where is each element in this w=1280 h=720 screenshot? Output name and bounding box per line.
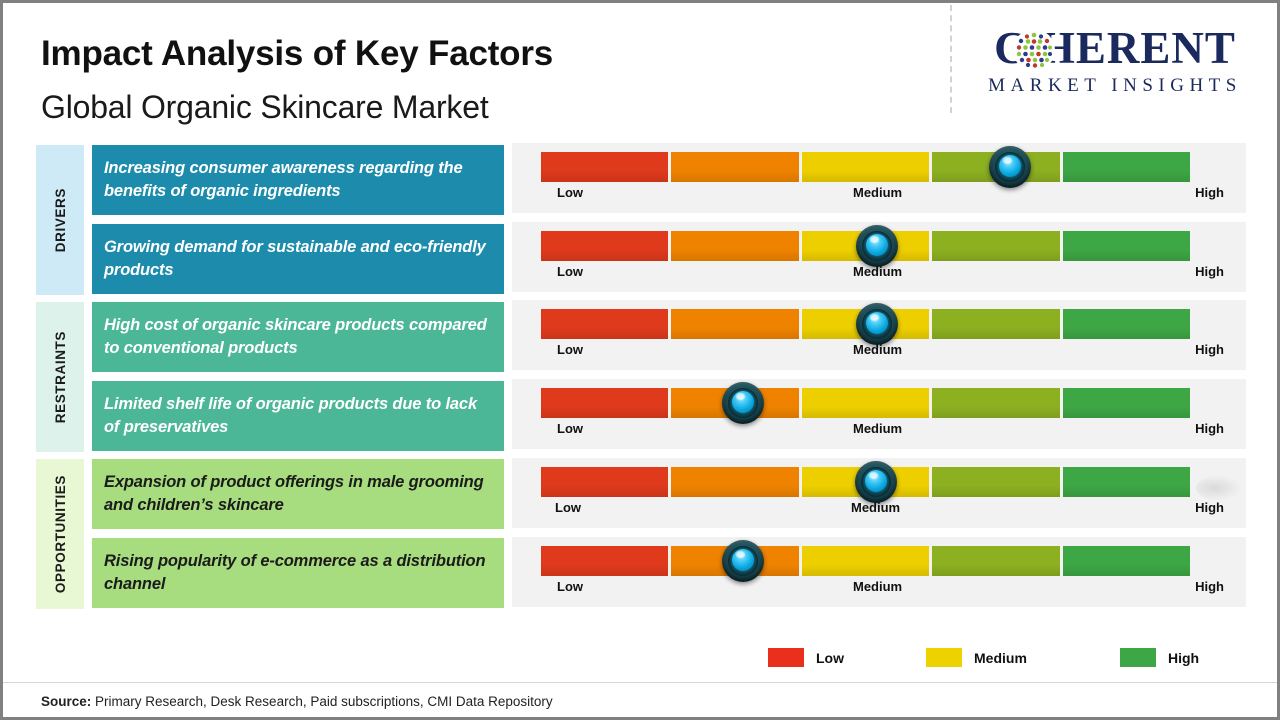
row-shadow-artifact <box>1196 475 1242 501</box>
scale-label-high: High <box>1195 500 1224 515</box>
factor-box: Expansion of product offerings in male g… <box>92 459 504 529</box>
gauge-segment-2 <box>671 309 798 339</box>
legend-item-high: High <box>1120 648 1199 667</box>
legend-swatch-medium <box>926 648 962 667</box>
gauge-row: Low Medium High <box>512 458 1246 528</box>
legend-label-low: Low <box>816 650 844 666</box>
scale-label-medium: Medium <box>853 421 902 436</box>
gauge-scale: Low Medium High <box>541 342 1224 364</box>
impact-marker[interactable] <box>856 225 898 267</box>
scale-label-high: High <box>1195 264 1224 279</box>
factor-box: Limited shelf life of organic products d… <box>92 381 504 451</box>
gauge-segment-2 <box>671 231 798 261</box>
marker-glint <box>736 393 745 400</box>
category-label-restraints: RESTRAINTS <box>36 302 84 452</box>
gauge-segment-1 <box>541 309 668 339</box>
gauge-segment-4 <box>932 546 1059 576</box>
marker-glint <box>1003 157 1012 164</box>
source-label: Source: <box>41 694 91 709</box>
impact-marker[interactable] <box>722 540 764 582</box>
gauge-segment-3 <box>802 388 929 418</box>
gauge-segment-5 <box>1063 309 1190 339</box>
gauge-segment-2 <box>671 152 798 182</box>
scale-label-medium: Medium <box>853 264 902 279</box>
gauge-segment-2 <box>671 467 798 497</box>
category-label-opportunities: OPPORTUNITIES <box>36 459 84 609</box>
scale-label-high: High <box>1195 185 1224 200</box>
gauge-scale: Low Medium High <box>541 579 1224 601</box>
marker-glint <box>736 551 745 558</box>
impact-marker[interactable] <box>722 382 764 424</box>
gauge-segment-1 <box>541 231 668 261</box>
factor-box: High cost of organic skincare products c… <box>92 302 504 372</box>
gauge-scale: Low Medium High <box>541 264 1224 286</box>
gauge-segment-5 <box>1063 231 1190 261</box>
logo-wordmark: C HERENT <box>965 23 1265 73</box>
factor-text: Increasing consumer awareness regarding … <box>104 157 492 204</box>
impact-marker[interactable] <box>856 303 898 345</box>
gauge-segment-1 <box>541 388 668 418</box>
header-dashed-divider <box>950 5 952 113</box>
infographic-page: Impact Analysis of Key Factors Global Or… <box>0 0 1280 720</box>
factor-box: Rising popularity of e-commerce as a dis… <box>92 538 504 608</box>
factor-box: Increasing consumer awareness regarding … <box>92 145 504 215</box>
scale-label-medium: Medium <box>851 500 900 515</box>
scale-label-low: Low <box>555 500 581 515</box>
gauge-row: Low Medium High <box>512 537 1246 607</box>
factor-text: Rising popularity of e-commerce as a dis… <box>104 550 492 597</box>
factor-text: Expansion of product offerings in male g… <box>104 471 492 518</box>
gauge-scale: Low Medium High <box>541 421 1224 443</box>
source-text: Primary Research, Desk Research, Paid su… <box>91 694 552 709</box>
footer-divider <box>3 682 1280 683</box>
legend-swatch-high <box>1120 648 1156 667</box>
legend-swatch-low <box>768 648 804 667</box>
impact-marker[interactable] <box>989 146 1031 188</box>
header: Impact Analysis of Key Factors Global Or… <box>3 3 1280 135</box>
gauge-segment-3 <box>802 152 929 182</box>
gauge-scale: Low Medium High <box>541 185 1224 207</box>
factor-text: High cost of organic skincare products c… <box>104 314 492 361</box>
gauge-segment-4 <box>932 231 1059 261</box>
legend-item-medium: Medium <box>926 648 1027 667</box>
logo-tagline: MARKET INSIGHTS <box>965 75 1265 97</box>
scale-label-high: High <box>1195 342 1224 357</box>
scale-label-medium: Medium <box>853 185 902 200</box>
marker-glint <box>869 472 878 479</box>
gauge-segment-4 <box>932 388 1059 418</box>
gauge-segment-4 <box>932 309 1059 339</box>
scale-label-low: Low <box>557 421 583 436</box>
gauge-row: Low Medium High <box>512 300 1246 370</box>
gauge-bar <box>541 388 1190 418</box>
source-line: Source: Primary Research, Desk Research,… <box>41 694 553 709</box>
dotted-globe-icon <box>1013 29 1055 71</box>
scale-label-high: High <box>1195 421 1224 436</box>
factor-box: Growing demand for sustainable and eco-f… <box>92 224 504 294</box>
legend-label-high: High <box>1168 650 1199 666</box>
page-subtitle: Global Organic Skincare Market <box>41 89 489 126</box>
impact-matrix: DRIVERS RESTRAINTS OPPORTUNITIES Increas… <box>3 135 1280 625</box>
gauge-segment-3 <box>802 546 929 576</box>
factor-text: Limited shelf life of organic products d… <box>104 393 492 440</box>
gauge-segment-1 <box>541 546 668 576</box>
gauge-row: Low Medium High <box>512 222 1246 292</box>
legend: Low Medium High <box>768 648 1208 672</box>
scale-label-high: High <box>1195 579 1224 594</box>
gauge-segment-5 <box>1063 546 1190 576</box>
scale-label-low: Low <box>557 579 583 594</box>
gauge-bar <box>541 152 1190 182</box>
gauge-segment-5 <box>1063 467 1190 497</box>
scale-label-low: Low <box>557 185 583 200</box>
gauge-segment-5 <box>1063 388 1190 418</box>
gauge-row: Low Medium High <box>512 143 1246 213</box>
scale-label-low: Low <box>557 342 583 357</box>
company-logo: C HERENT <box>965 23 1265 105</box>
gauge-segment-1 <box>541 467 668 497</box>
gauge-segment-1 <box>541 152 668 182</box>
impact-marker[interactable] <box>855 461 897 503</box>
legend-label-medium: Medium <box>974 650 1027 666</box>
factor-text: Growing demand for sustainable and eco-f… <box>104 236 492 283</box>
gauge-segment-5 <box>1063 152 1190 182</box>
gauge-row: Low Medium High <box>512 379 1246 449</box>
scale-label-low: Low <box>557 264 583 279</box>
page-title: Impact Analysis of Key Factors <box>41 34 553 74</box>
category-label-drivers: DRIVERS <box>36 145 84 295</box>
legend-item-low: Low <box>768 648 844 667</box>
scale-label-medium: Medium <box>853 579 902 594</box>
gauge-segment-4 <box>932 467 1059 497</box>
gauge-bar <box>541 546 1190 576</box>
gauge-scale: Low Medium High <box>541 500 1224 522</box>
scale-label-medium: Medium <box>853 342 902 357</box>
